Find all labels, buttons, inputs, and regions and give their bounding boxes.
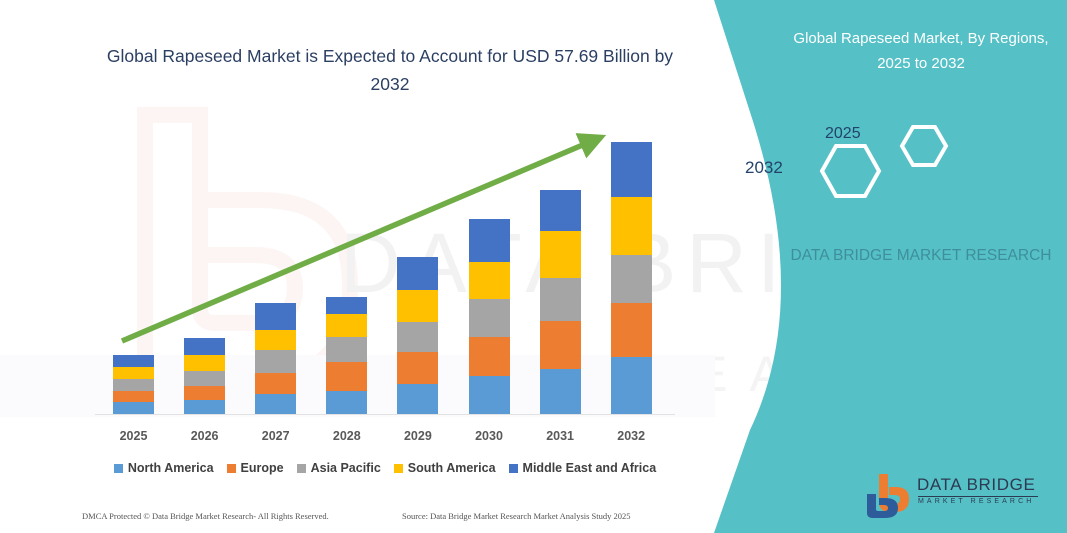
bar-segment[interactable] <box>469 376 510 414</box>
legend-item[interactable]: Asia Pacific <box>297 461 381 475</box>
hexagon-2025-label: 2025 <box>825 125 861 143</box>
bar-2031[interactable] <box>540 190 581 414</box>
bar-segment[interactable] <box>326 297 367 314</box>
bar-segment[interactable] <box>113 367 154 379</box>
bar-segment[interactable] <box>326 314 367 337</box>
bar-2032[interactable] <box>611 142 652 414</box>
legend-label: Asia Pacific <box>311 461 381 475</box>
bar-segment[interactable] <box>255 303 296 330</box>
bar-segment[interactable] <box>540 231 581 278</box>
bar-segment[interactable] <box>611 197 652 255</box>
bar-segment[interactable] <box>255 373 296 394</box>
x-axis-label-2025: 2025 <box>99 429 169 443</box>
bar-segment[interactable] <box>326 391 367 414</box>
legend-swatch <box>394 464 403 473</box>
x-axis-label-2032: 2032 <box>596 429 666 443</box>
legend-label: North America <box>128 461 214 475</box>
bar-segment[interactable] <box>397 384 438 414</box>
bar-segment[interactable] <box>397 290 438 322</box>
bar-segment[interactable] <box>113 379 154 391</box>
growth-arrow-icon <box>0 0 715 533</box>
bar-segment[interactable] <box>397 257 438 290</box>
legend-item[interactable]: Europe <box>227 461 284 475</box>
bar-segment[interactable] <box>255 394 296 414</box>
bar-2029[interactable] <box>397 257 438 414</box>
legend-item[interactable]: North America <box>114 461 214 475</box>
legend-swatch <box>227 464 236 473</box>
x-axis-label-2026: 2026 <box>170 429 240 443</box>
bar-segment[interactable] <box>397 352 438 384</box>
logo-divider <box>918 496 1038 497</box>
bar-segment[interactable] <box>255 330 296 350</box>
bar-segment[interactable] <box>326 362 367 391</box>
logo-mark-icon <box>865 472 915 518</box>
bar-segment[interactable] <box>611 142 652 197</box>
brand-panel: Global Rapeseed Market, By Regions, 2025… <box>690 0 1067 533</box>
bar-segment[interactable] <box>326 337 367 362</box>
legend-label: South America <box>408 461 496 475</box>
logo-primary-text: DATA BRIDGE <box>917 475 1035 495</box>
bar-segment[interactable] <box>184 371 225 386</box>
bar-segment[interactable] <box>184 355 225 371</box>
bar-2026[interactable] <box>184 338 225 414</box>
footer-source: Source: Data Bridge Market Research Mark… <box>402 511 631 521</box>
x-axis-label-2030: 2030 <box>454 429 524 443</box>
bar-segment[interactable] <box>611 357 652 414</box>
bar-segment[interactable] <box>184 338 225 355</box>
chart-legend: North AmericaEuropeAsia PacificSouth Ame… <box>95 461 675 475</box>
bar-segment[interactable] <box>540 369 581 414</box>
legend-swatch <box>509 464 518 473</box>
chart-plot-area: 20252026202720282029203020312032 <box>0 0 715 533</box>
bar-segment[interactable] <box>255 350 296 373</box>
bar-segment[interactable] <box>469 219 510 262</box>
bar-segment[interactable] <box>540 190 581 231</box>
bar-2030[interactable] <box>469 219 510 414</box>
bar-segment[interactable] <box>469 337 510 376</box>
infographic-canvas: DATA BRIDGE MARKET RESEARCH Global Rapes… <box>0 0 1067 533</box>
bar-2025[interactable] <box>113 355 154 414</box>
legend-label: Middle East and Africa <box>523 461 657 475</box>
data-bridge-logo: DATA BRIDGE MARKET RESEARCH <box>865 470 1050 518</box>
bar-segment[interactable] <box>611 255 652 303</box>
bar-segment[interactable] <box>113 402 154 414</box>
legend-swatch <box>114 464 123 473</box>
bar-segment[interactable] <box>113 355 154 367</box>
x-axis-label-2028: 2028 <box>312 429 382 443</box>
bar-segment[interactable] <box>469 262 510 299</box>
bar-segment[interactable] <box>611 303 652 357</box>
panel-brand-text: DATA BRIDGE MARKET RESEARCH <box>790 243 1052 269</box>
hexagon-2032-label: 2032 <box>745 158 783 178</box>
panel-title: Global Rapeseed Market, By Regions, 2025… <box>790 26 1052 76</box>
legend-item[interactable]: South America <box>394 461 496 475</box>
legend-label: Europe <box>241 461 284 475</box>
bar-segment[interactable] <box>469 299 510 337</box>
bar-segment[interactable] <box>540 321 581 369</box>
x-axis-label-2031: 2031 <box>525 429 595 443</box>
bar-2028[interactable] <box>326 297 367 414</box>
x-axis-label-2029: 2029 <box>383 429 453 443</box>
bar-segment[interactable] <box>184 386 225 400</box>
x-axis-label-2027: 2027 <box>241 429 311 443</box>
bar-segment[interactable] <box>540 278 581 321</box>
bar-segment[interactable] <box>184 400 225 414</box>
bar-2027[interactable] <box>255 303 296 414</box>
legend-swatch <box>297 464 306 473</box>
legend-item[interactable]: Middle East and Africa <box>509 461 657 475</box>
bar-segment[interactable] <box>113 391 154 402</box>
bar-segment[interactable] <box>397 322 438 352</box>
footer-copyright: DMCA Protected © Data Bridge Market Rese… <box>82 511 329 521</box>
logo-secondary-text: MARKET RESEARCH <box>918 498 1034 505</box>
